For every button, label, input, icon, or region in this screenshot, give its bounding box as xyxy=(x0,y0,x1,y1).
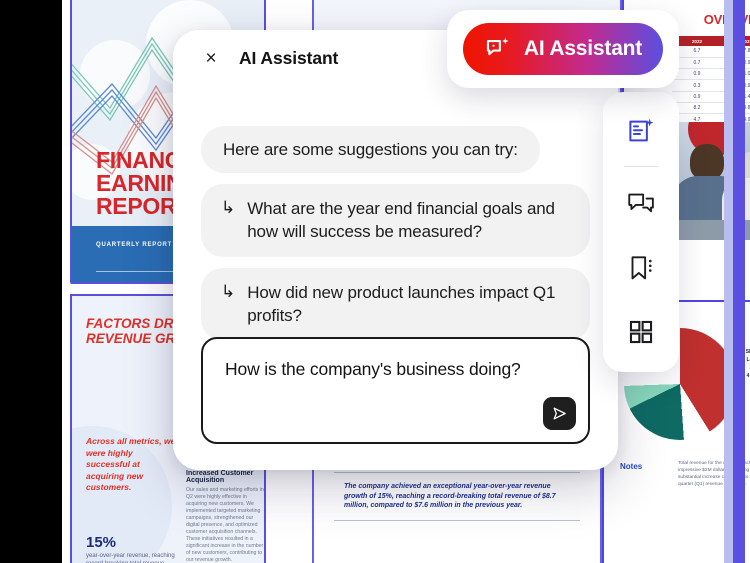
arrow-return-icon: ↳ xyxy=(221,281,235,303)
bookmark-icon[interactable] xyxy=(618,245,664,291)
send-button[interactable] xyxy=(543,397,576,430)
assistant-intro-message: Here are some suggestions you can try: xyxy=(201,126,540,173)
overview-col-2022: 2022 xyxy=(672,36,722,46)
ai-chat-sparkle-icon xyxy=(484,35,512,63)
revenue-quote: The company achieved an exceptional year… xyxy=(334,472,580,521)
suggestion-text: How did new product launches impact Q1 p… xyxy=(247,281,566,327)
ai-assistant-pill-container: AI Assistant xyxy=(447,10,679,88)
comments-icon[interactable] xyxy=(618,181,664,227)
page-spine-inner xyxy=(733,0,745,563)
send-icon xyxy=(551,405,568,422)
tool-rail xyxy=(603,92,679,372)
factors-stat-value: 15% xyxy=(86,534,116,551)
notes-label: Notes xyxy=(620,462,642,471)
thumbnails-grid-icon[interactable] xyxy=(618,309,664,355)
prompt-input[interactable] xyxy=(225,359,530,380)
panel-title: AI Assistant xyxy=(239,48,338,69)
factors-pull-quote: Across all metrics, we were highly succe… xyxy=(86,436,178,494)
factors-section-heading: Increased Customer Acquisition xyxy=(186,470,264,484)
ai-assistant-button[interactable]: AI Assistant xyxy=(463,23,663,75)
rail-separator xyxy=(624,166,658,167)
suggestion-item-1[interactable]: ↳ What are the year end financial goals … xyxy=(201,184,590,257)
cover-footer-label: QUARTERLY REPORT xyxy=(96,242,172,248)
close-icon[interactable]: × xyxy=(201,48,221,68)
factors-section-body: Our sales and marketing efforts in Q2 we… xyxy=(186,487,264,563)
suggestion-text: What are the year end financial goals an… xyxy=(247,197,566,243)
arrow-return-icon: ↳ xyxy=(221,197,235,219)
ai-assistant-panel: × AI Assistant Here are some suggestions… xyxy=(173,30,618,470)
factors-stat-caption: year-over-year revenue, reaching record-… xyxy=(86,552,178,563)
screen-root: FINANCIAL EARNINGS REPORT QUARTERLY REPO… xyxy=(0,0,750,563)
composer-box[interactable] xyxy=(201,337,590,444)
ai-summary-icon[interactable] xyxy=(618,108,664,154)
page-spine-outer xyxy=(724,0,733,563)
suggestion-item-2[interactable]: ↳ How did new product launches impact Q1… xyxy=(201,268,590,341)
ai-assistant-button-label: AI Assistant xyxy=(524,37,642,61)
suggestions-list: Here are some suggestions you can try: ↳… xyxy=(201,126,590,352)
